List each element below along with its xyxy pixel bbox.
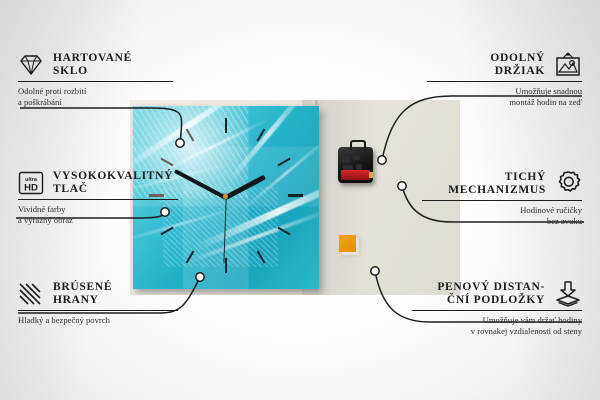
foam-spacer-pad [339,235,356,252]
feature-title: BRÚSENÉ HRANY [53,281,112,307]
feature-title: PENOVÝ DISTAN- ČNÍ PODLOŽKY [437,281,545,307]
mechanism-notch [353,155,360,160]
feature-title: ODOLNÝ DRŽIAK [490,52,545,78]
svg-text:HD: HD [24,183,38,194]
diamond-icon [18,53,44,77]
mechanism-hanger-hook [350,140,366,150]
feature-description: Vividné farby a výrazný obraz [18,200,178,226]
feature-description: Hladký a bezpečný povrch [18,311,178,326]
feature-foam-spacers: PENOVÝ DISTAN- ČNÍ PODLOŽKY Umožňuje vám… [412,281,582,337]
feature-title: HARTOVANÉ SKLO [53,52,132,78]
hatched-edge-icon [18,282,44,306]
feature-header: BRÚSENÉ HRANY [18,281,178,307]
feature-header: ODOLNÝ DRŽIAK [427,52,582,78]
feature-high-quality-print: ultra HD VYSOKOKVALITNÝ TLAČ Vividné far… [18,170,178,226]
feature-description: Odolné proti rozbití a poškrábání [18,82,173,108]
feature-tempered-glass: HARTOVANÉ SKLO Odolné proti rozbití a po… [18,52,173,108]
clock-mechanism [338,147,373,183]
battery-terminal [369,172,373,178]
press-layers-icon [554,281,582,307]
clock-center-pin [223,194,228,199]
mechanism-notch [342,156,350,163]
clock-tick-12 [225,118,227,133]
feature-header: TICHÝ MECHANIZMUS [422,170,582,197]
gear-icon [555,170,582,197]
mechanism-battery [341,170,370,180]
clock-tick-3 [288,194,303,197]
feature-header: PENOVÝ DISTAN- ČNÍ PODLOŽKY [412,281,582,307]
feature-description: Umožňuje snadnou montáž hodin na zeď [427,82,582,108]
feature-durable-hanger: ODOLNÝ DRŽIAK Umožňuje snadnou montáž ho… [427,52,582,108]
ultra-hd-icon: ultra HD [18,170,44,196]
clock-tick-6 [225,258,227,273]
feature-title: VYSOKOKVALITNÝ TLAČ [53,170,173,196]
feature-polished-edges: BRÚSENÉ HRANY Hladký a bezpečný povrch [18,281,178,326]
infographic-canvas: HARTOVANÉ SKLO Odolné proti rozbití a po… [0,0,600,400]
feature-header: HARTOVANÉ SKLO [18,52,173,78]
product-photo [130,100,460,295]
feature-description: Hodinové ručičky bez zvuku [422,201,582,227]
feature-description: Umožňuje vám držať hodiny v rovnakej vzd… [412,311,582,337]
feature-title: TICHÝ MECHANIZMUS [448,171,546,197]
feature-silent-mechanism: TICHÝ MECHANIZMUS Hodinové ručičky bez z… [422,170,582,227]
picture-frame-hanger-icon [554,52,582,78]
feature-header: ultra HD VYSOKOKVALITNÝ TLAČ [18,170,178,196]
